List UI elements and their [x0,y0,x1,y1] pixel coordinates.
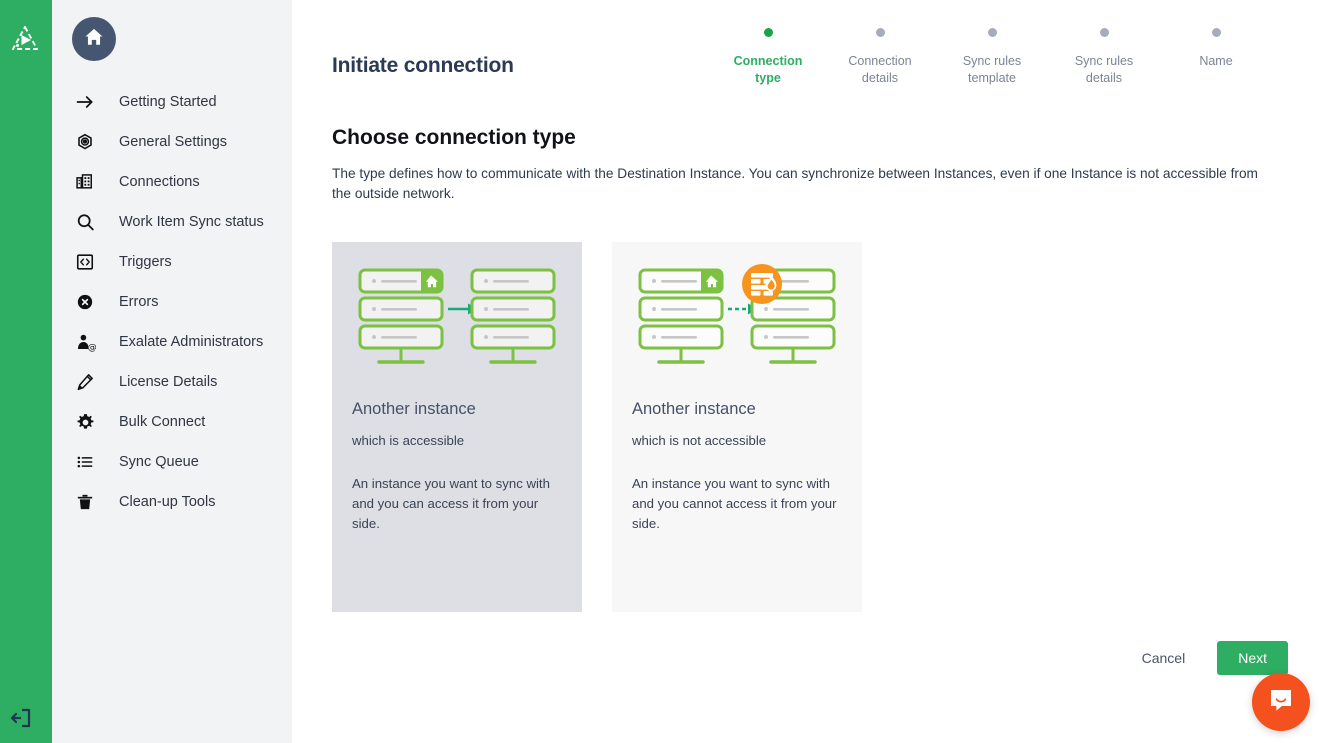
sidebar-item-triggers[interactable]: Triggers [52,242,292,282]
step-label-line2: template [936,70,1048,87]
wizard-stepper: Connection type Connection details Sync … [712,28,1272,87]
step-connection-type[interactable]: Connection type [712,28,824,87]
next-button[interactable]: Next [1217,641,1288,675]
card-another-instance-not-accessible[interactable]: Another instance which is not accessible… [612,242,862,612]
sidebar-item-label: Getting Started [119,94,217,110]
step-dot [1100,28,1109,37]
connection-type-cards: Another instance which is accessible An … [332,242,862,612]
error-circle-icon [72,289,98,315]
sidebar-item-label: Work Item Sync status [119,214,264,230]
step-sync-rules-details[interactable]: Sync rules details [1048,28,1160,87]
exalate-logo [8,22,42,56]
card-title: Another instance [352,400,572,419]
sidebar-item-label: License Details [119,374,217,390]
code-brackets-icon [72,249,98,275]
sidebar-nav: Getting Started General Settings [52,82,292,522]
sidebar-item-getting-started[interactable]: Getting Started [52,82,292,122]
gear-icon [72,409,98,435]
logout-icon[interactable] [8,705,34,731]
sidebar-item-label: Exalate Administrators [119,334,263,350]
sidebar-item-label: General Settings [119,134,227,150]
step-label-line2: details [1048,70,1160,87]
card-body: An instance you want to sync with and yo… [632,474,842,534]
sidebar-item-errors[interactable]: Errors [52,282,292,322]
buildings-icon [72,169,98,195]
sidebar-item-bulk-connect[interactable]: Bulk Connect [52,402,292,442]
intercom-chat-launcher[interactable] [1252,673,1310,731]
trash-icon [72,489,98,515]
app-root: Getting Started General Settings [0,0,1325,743]
card-body: An instance you want to sync with and yo… [352,474,562,534]
sidebar-item-work-item-sync-status[interactable]: Work Item Sync status [52,202,292,242]
cancel-button[interactable]: Cancel [1132,642,1196,674]
chat-bubble-smile-icon [1267,686,1295,719]
pencil-icon [72,369,98,395]
sidebar-item-label: Sync Queue [119,454,199,470]
sidebar-item-label: Connections [119,174,200,190]
sidebar-item-label: Triggers [119,254,172,270]
sidebar-item-label: Bulk Connect [119,414,205,430]
step-label-line2: details [824,70,936,87]
sidebar-item-label: Clean-up Tools [119,494,215,510]
section-description: The type defines how to communicate with… [332,164,1276,204]
left-rail [0,0,52,743]
illustration-two-servers-solid-arrow [342,242,572,392]
target-gear-icon [72,129,98,155]
wizard-footer: Cancel Next [1132,641,1288,675]
main-content: Initiate connection Connection type Conn… [292,0,1325,743]
sidebar-item-exalate-administrators[interactable]: @ Exalate Administrators [52,322,292,362]
step-dot [876,28,885,37]
card-another-instance-accessible[interactable]: Another instance which is accessible An … [332,242,582,612]
step-label-line1: Sync rules [1048,53,1160,70]
sidebar-item-connections[interactable]: Connections [52,162,292,202]
step-label-line1: Name [1160,53,1272,70]
sidebar-item-license-details[interactable]: License Details [52,362,292,402]
step-label-line1: Connection [712,53,824,70]
search-icon [72,209,98,235]
firewall-icon [742,264,782,304]
arrow-right-icon [72,89,98,115]
illustration-two-servers-dashed-arrow-firewall [622,242,852,392]
list-icon [72,449,98,475]
step-label-line2: type [712,70,824,87]
sidebar: Getting Started General Settings [52,0,292,743]
sidebar-item-general-settings[interactable]: General Settings [52,122,292,162]
step-label-line1: Sync rules [936,53,1048,70]
step-label-line1: Connection [824,53,936,70]
card-title: Another instance [632,400,852,419]
sidebar-item-label: Errors [119,294,158,310]
sidebar-item-sync-queue[interactable]: Sync Queue [52,442,292,482]
card-subtitle: which is not accessible [632,433,852,448]
page-title: Initiate connection [332,54,514,78]
step-name[interactable]: Name [1160,28,1272,70]
section-title: Choose connection type [332,126,576,150]
step-dot [1212,28,1221,37]
step-sync-rules-template[interactable]: Sync rules template [936,28,1048,87]
sidebar-home-button[interactable] [72,17,116,61]
home-icon [83,26,105,53]
user-at-icon: @ [72,329,98,355]
sidebar-item-clean-up-tools[interactable]: Clean-up Tools [52,482,292,522]
step-connection-details[interactable]: Connection details [824,28,936,87]
svg-text:@: @ [87,341,95,352]
step-dot [764,28,773,37]
step-dot [988,28,997,37]
card-subtitle: which is accessible [352,433,572,448]
